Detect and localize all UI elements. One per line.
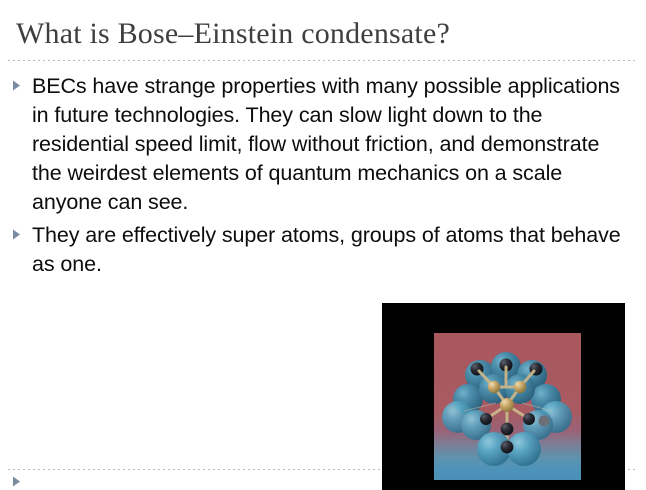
molecular-cluster-image: [382, 303, 625, 490]
list-item-text: They are effectively super atoms, groups…: [32, 221, 646, 279]
triangle-right-bullet-icon: [12, 72, 32, 91]
molecular-cluster-canvas: [434, 333, 581, 480]
title-area: What is Bose–Einstein condensate?: [0, 0, 646, 61]
list-item-text: BECs have strange properties with many p…: [32, 72, 646, 217]
page-title: What is Bose–Einstein condensate?: [16, 16, 450, 52]
title-divider: [8, 60, 638, 61]
triangle-right-bullet-icon: [12, 476, 32, 487]
list-item: BECs have strange properties with many p…: [0, 72, 646, 217]
slide-canvas: What is Bose–Einstein condensate? BECs h…: [0, 0, 646, 490]
triangle-right-bullet-icon: [12, 221, 32, 240]
slide-body: BECs have strange properties with many p…: [0, 72, 646, 283]
list-item: They are effectively super atoms, groups…: [0, 221, 646, 279]
molecule-illustration: [434, 333, 581, 480]
